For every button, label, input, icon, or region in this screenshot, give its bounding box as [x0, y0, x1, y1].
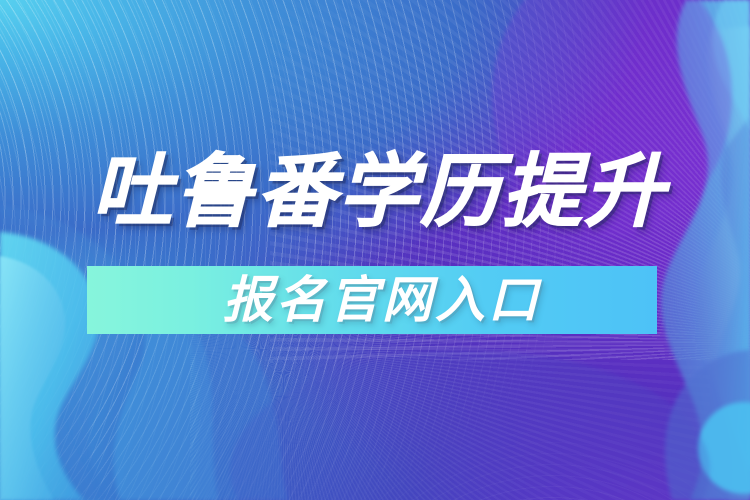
background-gradient	[0, 0, 750, 500]
promo-banner: 吐鲁番学历提升 报名官网入口	[0, 0, 750, 500]
banner-subtitle: 报名官网入口	[203, 275, 541, 325]
banner-title: 吐鲁番学历提升	[92, 152, 672, 232]
subtitle-highlight-bar: 报名官网入口	[87, 266, 657, 334]
